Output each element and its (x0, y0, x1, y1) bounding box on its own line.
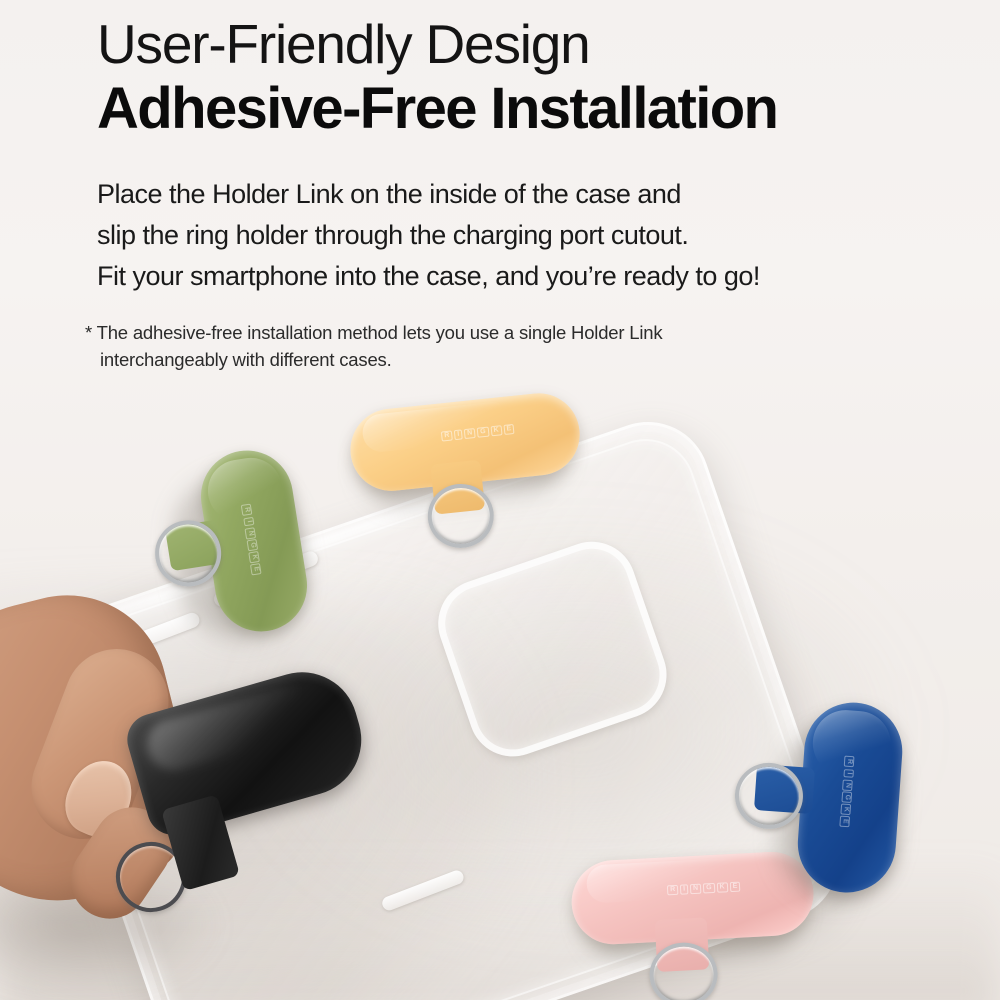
holder-link-tab-blue: R I N G K E (728, 689, 927, 906)
body-line-1: Place the Holder Link on the inside of t… (97, 174, 957, 215)
headline-line-2: Adhesive-Free Installation (97, 74, 957, 140)
holder-link-tab-yellow: R I N G K E (338, 383, 597, 558)
footnote: * The adhesive-free installation method … (85, 297, 945, 373)
headline-line-1: User-Friendly Design (97, 0, 957, 74)
body-line-3: Fit your smartphone into the case, and y… (97, 256, 957, 297)
footnote-marker: * (85, 322, 92, 343)
footnote-text-1: The adhesive-free installation method le… (97, 322, 663, 343)
body-line-2: slip the ring holder through the chargin… (97, 215, 957, 256)
footnote-line-1: * The adhesive-free installation method … (85, 319, 945, 346)
marketing-copy-block: User-Friendly Design Adhesive-Free Insta… (97, 0, 957, 373)
body-copy: Place the Holder Link on the inside of t… (97, 140, 957, 297)
footnote-line-2: interchangeably with different cases. (85, 346, 945, 373)
product-feature-image: R I N G K E R I N G K E (0, 0, 1000, 1000)
